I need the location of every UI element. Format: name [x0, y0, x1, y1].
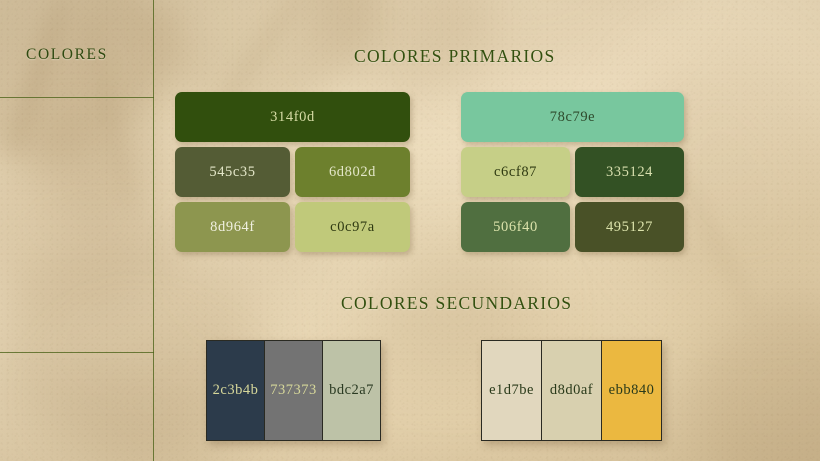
color-swatch[interactable]: ebb840	[602, 341, 661, 440]
swatch-hex-label: 737373	[270, 382, 317, 399]
swatch-hex-label: 545c35	[209, 164, 255, 181]
color-swatch[interactable]: 8d964f	[175, 202, 290, 252]
color-swatch[interactable]: 495127	[575, 202, 684, 252]
swatch-hex-label: e1d7be	[489, 382, 534, 399]
color-swatch[interactable]: 78c79e	[461, 92, 684, 142]
color-swatch[interactable]: 6d802d	[295, 147, 410, 197]
color-swatch[interactable]: 506f40	[461, 202, 570, 252]
swatch-hex-label: 506f40	[493, 219, 538, 236]
horizontal-divider-bottom	[0, 352, 154, 353]
swatch-hex-label: 335124	[606, 164, 653, 181]
color-swatch[interactable]: e1d7be	[482, 341, 542, 440]
color-swatch[interactable]: c0c97a	[295, 202, 410, 252]
color-swatch[interactable]: 545c35	[175, 147, 290, 197]
secondary-palette-right: e1d7be d8d0af ebb840	[481, 340, 662, 441]
secondary-palette-left: 2c3b4b 737373 bdc2a7	[206, 340, 381, 441]
swatch-hex-label: d8d0af	[550, 382, 593, 399]
swatch-row: 8d964f c0c97a	[175, 202, 410, 252]
color-swatch[interactable]: 737373	[265, 341, 323, 440]
swatch-hex-label: bdc2a7	[329, 382, 374, 399]
vertical-divider	[153, 0, 154, 461]
swatch-row: 545c35 6d802d	[175, 147, 410, 197]
color-swatch[interactable]: c6cf87	[461, 147, 570, 197]
section-title-secundarios: COLORES SECUNDARIOS	[341, 293, 572, 314]
color-swatch[interactable]: d8d0af	[542, 341, 602, 440]
color-swatch[interactable]: bdc2a7	[323, 341, 380, 440]
swatch-hex-label: 6d802d	[329, 164, 376, 181]
swatch-hex-label: 495127	[606, 219, 653, 236]
color-swatch[interactable]: 335124	[575, 147, 684, 197]
color-swatch[interactable]: 2c3b4b	[207, 341, 265, 440]
primary-palette-right: 78c79e c6cf87 335124 506f40 495127	[461, 92, 684, 257]
swatch-hex-label: 2c3b4b	[213, 382, 259, 399]
horizontal-divider-top	[0, 97, 154, 98]
swatch-hex-label: 8d964f	[210, 219, 255, 236]
color-swatch[interactable]: 314f0d	[175, 92, 410, 142]
swatch-hex-label: c0c97a	[330, 219, 375, 236]
primary-palette-left: 314f0d 545c35 6d802d 8d964f c0c97a	[175, 92, 410, 257]
swatch-hex-label: c6cf87	[494, 164, 537, 181]
swatch-row: c6cf87 335124	[461, 147, 684, 197]
vignette-overlay	[0, 0, 820, 461]
swatch-hex-label: 78c79e	[550, 109, 595, 126]
section-title-primarios: COLORES PRIMARIOS	[354, 46, 556, 67]
sidebar-label-colores: COLORES	[26, 46, 108, 64]
swatch-hex-label: 314f0d	[270, 109, 315, 126]
style-guide-page: COLORES GUIA DE ESTILO COLORES PRIMARIOS…	[0, 0, 820, 461]
swatch-row: 506f40 495127	[461, 202, 684, 252]
swatch-hex-label: ebb840	[609, 382, 655, 399]
